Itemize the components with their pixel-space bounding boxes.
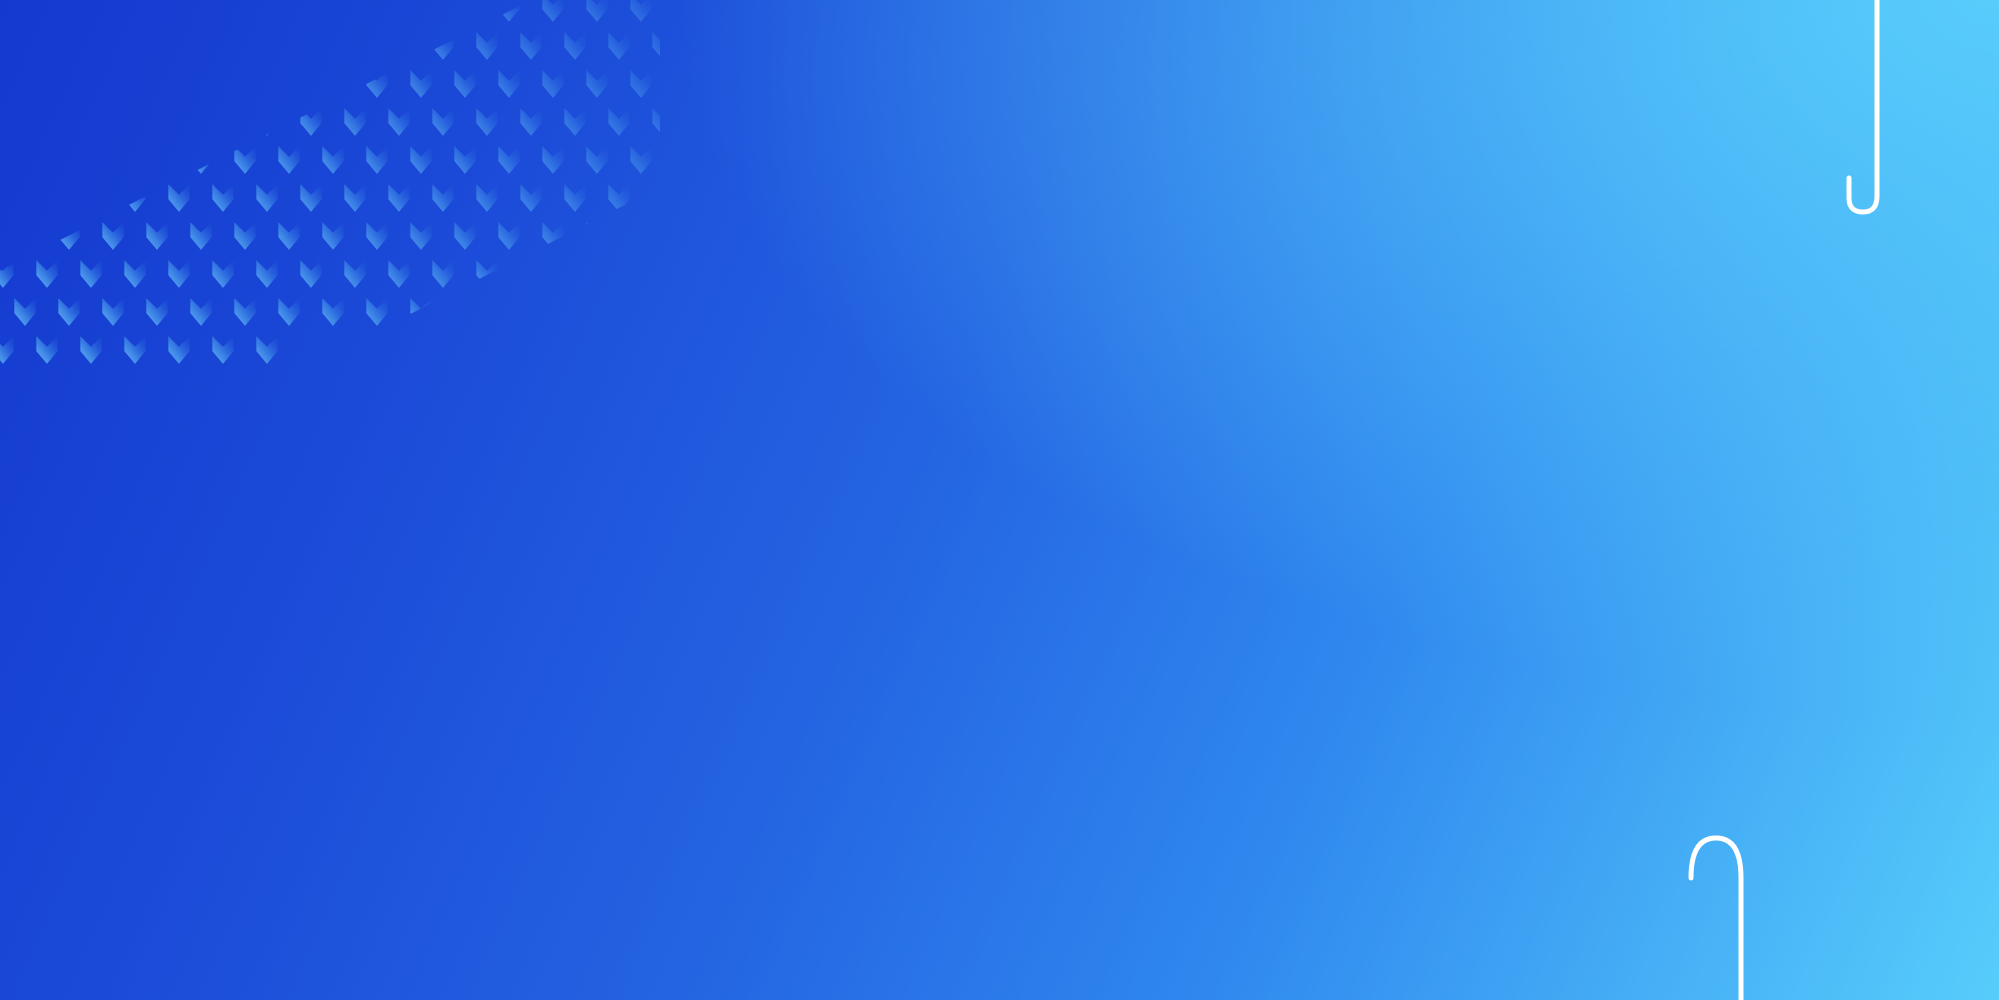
small-gear-outline	[1532, 170, 1844, 704]
maintenance-page	[0, 0, 1999, 1000]
chevron-leaf-pattern	[0, 0, 660, 390]
gears-illustration	[1239, 0, 1999, 1000]
small-gear-teeth	[1785, 179, 1999, 395]
small-gear	[1513, 170, 1999, 736]
gear-connector-bottom	[1691, 838, 1741, 1000]
gear-connector-top	[1849, 0, 1877, 212]
message-block	[146, 262, 1146, 308]
